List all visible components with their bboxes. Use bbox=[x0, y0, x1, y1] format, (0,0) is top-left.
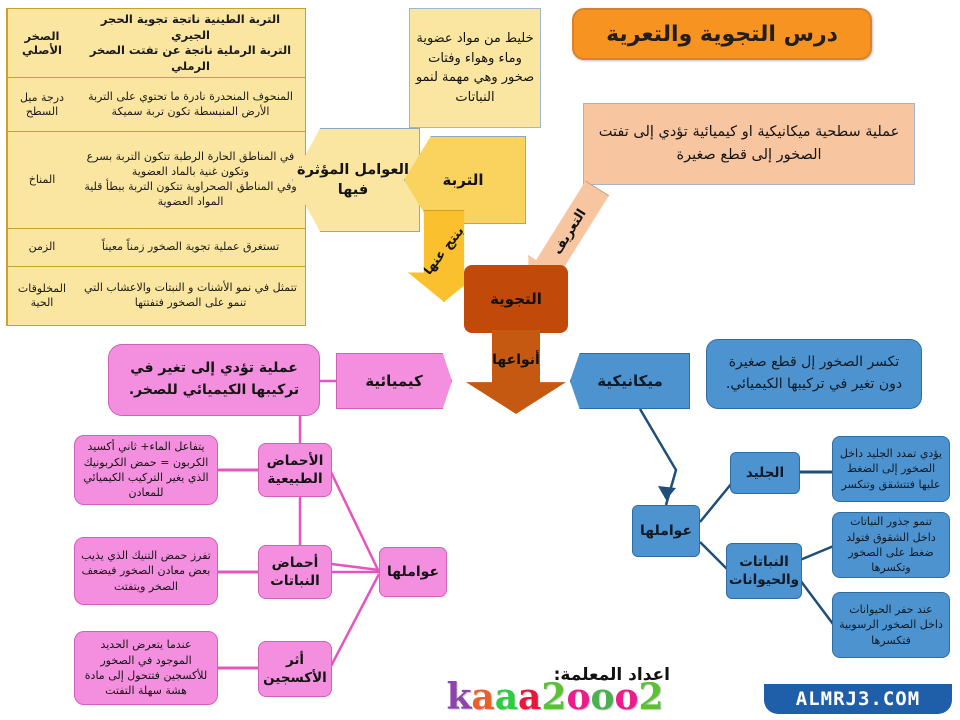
page-title: درس التجوية والتعرية bbox=[572, 8, 872, 60]
table-row: في المناطق الحارة الرطبة تتكون التربة بس… bbox=[7, 132, 305, 228]
weathering-node: التجوية bbox=[464, 265, 568, 333]
soil-factors-table: التربة الطينية ناتجة تجوية الحجر الجيريا… bbox=[6, 8, 306, 326]
teacher-signature: kaaa2ooo2 bbox=[415, 676, 695, 718]
table-cell-value: تتمثل في نمو الأشنات و النبتات والاعشاب … bbox=[76, 267, 305, 325]
table-cell-value: تستغرق عملية تجوية الصخور زمناً معيناً bbox=[76, 229, 305, 266]
diagram-canvas: درس التجوية والتعرية التربة الطينية ناتج… bbox=[0, 0, 960, 720]
signature-letter: o bbox=[590, 676, 614, 718]
yields-arrow-label: ينتج عنها bbox=[421, 223, 468, 277]
signature-letter: o bbox=[566, 676, 590, 718]
definition-arrow-label: التعريف bbox=[550, 207, 589, 258]
signature-letter: o bbox=[614, 676, 638, 718]
signature-letter: a bbox=[518, 676, 541, 718]
chemical-weathering-node: كيميائية bbox=[336, 353, 452, 409]
mechanical-branch-ice: الجليد bbox=[730, 452, 800, 494]
table-row: المنحوف المنحدرة نادرة ما تحتوي على التر… bbox=[7, 78, 305, 132]
mechanical-branch-plants-animals: النباتات والحيوانات bbox=[726, 543, 802, 599]
table-cell-value: في المناطق الحارة الرطبة تتكون التربة بس… bbox=[76, 132, 305, 227]
signature-letter: a bbox=[495, 676, 518, 718]
table-row: تتمثل في نمو الأشنات و النبتات والاعشاب … bbox=[7, 267, 305, 325]
table-cell-key: الزمن bbox=[7, 229, 76, 266]
signature-letter: k bbox=[446, 676, 471, 718]
signature-letter: 2 bbox=[541, 676, 566, 718]
types-arrow: أنواعها bbox=[466, 330, 566, 414]
chemical-branch-oxygen: أثر الأكسجين bbox=[258, 641, 332, 697]
chemical-agents-node: عواملها bbox=[379, 547, 447, 597]
soil-node: التربة bbox=[404, 136, 526, 224]
chemical-branch-natural-acids: الأحماض الطبيعية bbox=[258, 443, 332, 497]
types-arrow-label: أنواعها bbox=[492, 352, 540, 368]
table-cell-key: درجة ميل السطح bbox=[7, 78, 76, 131]
table-cell-key: المناخ bbox=[7, 132, 76, 227]
table-cell-value: المنحوف المنحدرة نادرة ما تحتوي على التر… bbox=[76, 78, 305, 131]
mechanical-branch-ice-description: يؤدي تمدد الجليد داخل الصخور إلى الضغط ع… bbox=[832, 436, 950, 502]
table-row: تستغرق عملية تجوية الصخور زمناً معيناً ا… bbox=[7, 229, 305, 267]
chemical-definition-box: عملية تؤدي إلى تغير في تركيبها الكيميائي… bbox=[108, 344, 320, 416]
signature-letter: a bbox=[471, 676, 494, 718]
chemical-branch-plant-acids-description: تفرز حمض التنيك الذي يذيب بعض معادن الصخ… bbox=[74, 537, 218, 605]
mechanical-weathering-node: ميكانيكية bbox=[570, 353, 690, 409]
chemical-branch-natural-acids-description: يتفاعل الماء+ ثاني أكسيد الكربون = حمض ا… bbox=[74, 435, 218, 505]
affecting-factors-label: العوامل المؤثرة فيها bbox=[292, 128, 420, 232]
table-cell-value: التربة الطينية ناتجة تجوية الحجر الجيريا… bbox=[76, 9, 305, 77]
site-watermark: ALMRJ3.COM bbox=[764, 684, 952, 714]
mechanical-branch-animals-description: عند حفر الحيوانات داخل الصخور الرسوبية ف… bbox=[832, 592, 950, 658]
chemical-branch-oxygen-description: عندما يتعرض الحديد الموجود في الصخور للأ… bbox=[74, 631, 218, 705]
soil-definition-box: خليط من مواد عضوية وماء وهواء وفتات صخور… bbox=[409, 8, 541, 128]
weathering-definition-box: عملية سطحية ميكانيكية او كيميائية تؤدي إ… bbox=[583, 103, 915, 185]
mechanical-branch-plants-description: تنمو جذور النباتات داخل الشقوق فتولد ضغط… bbox=[832, 512, 950, 578]
signature-letter: 2 bbox=[638, 676, 663, 718]
table-row: التربة الطينية ناتجة تجوية الحجر الجيريا… bbox=[7, 9, 305, 78]
chemical-branch-plant-acids: أحماض النباتات bbox=[258, 545, 332, 599]
mechanical-agents-node: عواملها bbox=[632, 505, 700, 557]
mechanical-definition-box: تكسر الصخور إل قطع صغيرة دون تغير في ترك… bbox=[706, 339, 922, 409]
table-cell-key: الصخر الأصلي bbox=[7, 9, 76, 77]
table-cell-key: المخلوقات الحية bbox=[7, 267, 76, 325]
